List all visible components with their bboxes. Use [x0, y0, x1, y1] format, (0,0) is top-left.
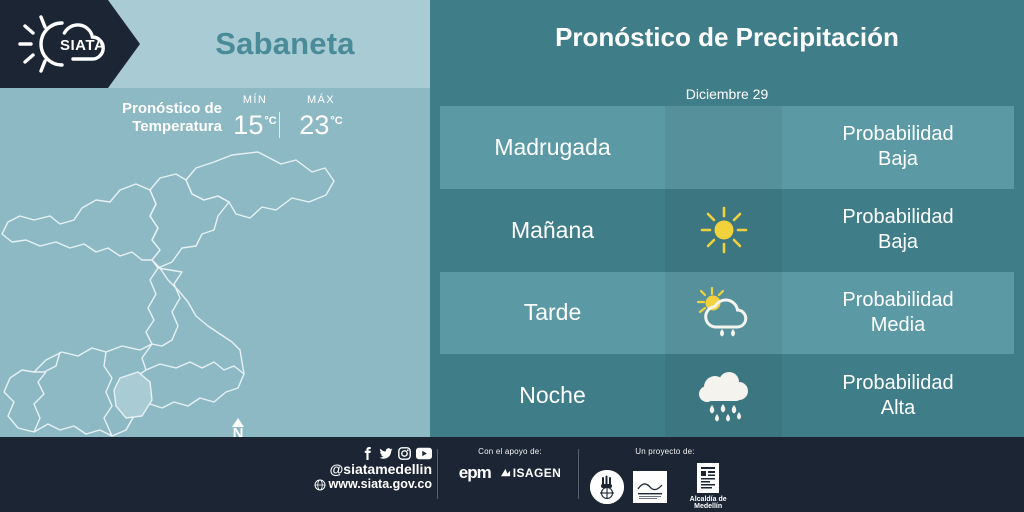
isagen-logo-text: ISAGEN [513, 466, 561, 480]
siata-logo-text: SIATA [60, 37, 105, 54]
probability-line1: Probabilidad [842, 206, 953, 228]
city-title: Sabaneta [140, 0, 430, 88]
isagen-logo: ISAGEN [500, 466, 561, 480]
youtube-icon[interactable] [416, 447, 432, 460]
weather-icon-cell [665, 354, 782, 437]
temperature-label-line1: Pronóstico de [122, 100, 222, 117]
probability-line1: Probabilidad [842, 289, 953, 311]
forecast-date: Diciembre 29 [430, 86, 1024, 102]
probability-label: Probabilidad Alta [782, 371, 1014, 421]
probability-line1: Probabilidad [842, 372, 953, 394]
temperature-block: Pronóstico de Temperatura MÍN 15°C MÁX 2… [0, 88, 430, 158]
left-header: SIATA Sabaneta [0, 0, 430, 88]
probability-line2: Media [871, 314, 925, 336]
social-handle[interactable]: @siatamedellin [308, 461, 432, 477]
moon-icon [701, 124, 747, 170]
probability-label: Probabilidad Media [782, 288, 1014, 338]
sun-cloud-rain-icon [695, 287, 753, 339]
forecast-row-tarde: Tarde [440, 272, 1014, 355]
probability-line1: Probabilidad [842, 123, 953, 145]
map-highlight-sabaneta [114, 372, 152, 418]
facebook-icon[interactable] [361, 447, 374, 460]
instagram-icon[interactable] [398, 447, 411, 460]
probability-line2: Alta [881, 397, 915, 419]
temperature-min-caption: MÍN [222, 94, 288, 106]
forecast-rows: Madrugada Probabilidad Baja Mañana [440, 106, 1014, 437]
cloud-heavy-rain-icon [695, 369, 753, 423]
project-group: Un proyecto de: [590, 447, 740, 510]
footer: @siatamedellin www.siata.gov.co Con el a… [0, 437, 1024, 512]
probability-line2: Baja [878, 231, 918, 253]
period-label: Mañana [440, 217, 665, 244]
temperature-max-value: 23 [299, 110, 329, 140]
left-panel: SIATA Sabaneta Pronóstico de Temperatura… [0, 0, 430, 437]
forecast-row-noche: Noche [440, 354, 1014, 437]
footer-divider-2 [578, 449, 579, 499]
temperature-label: Pronóstico de Temperatura [70, 100, 222, 136]
area-metropolitana-seal-icon [590, 470, 624, 504]
weather-icon-cell [665, 189, 782, 272]
project-caption: Un proyecto de: [590, 447, 740, 456]
sun-icon [699, 205, 749, 255]
alcaldia-medellin-label: Alcaldía de Medellín [676, 496, 740, 510]
sun-cloud-icon: SIATA [14, 10, 118, 78]
probability-label: Probabilidad Baja [782, 122, 1014, 172]
globe-icon [314, 479, 326, 491]
aburra-valley-map: N [0, 150, 430, 437]
epm-logo: epm [459, 463, 491, 483]
temperature-max-caption: MÁX [283, 94, 359, 106]
support-group: Con el apoyo de: epm ISAGEN [455, 447, 565, 483]
weather-icon-cell [665, 106, 782, 189]
forecast-row-madrugada: Madrugada Probabilidad Baja [440, 106, 1014, 189]
period-label: Noche [440, 382, 665, 409]
footer-divider-1 [437, 449, 438, 499]
temperature-max: MÁX 23°C [283, 94, 359, 139]
period-label: Madrugada [440, 134, 665, 161]
isagen-mark-icon [500, 468, 511, 479]
support-logos: epm ISAGEN [455, 463, 565, 483]
probability-label: Probabilidad Baja [782, 205, 1014, 255]
period-label: Tarde [440, 299, 665, 326]
website-url: www.siata.gov.co [329, 477, 433, 492]
forecast-title: Pronóstico de Precipitación [430, 22, 1024, 53]
temperature-min-unit: °C [264, 115, 276, 127]
forecast-row-manana: Mañana [440, 189, 1014, 272]
weather-forecast-infographic: SIATA Sabaneta Pronóstico de Temperatura… [0, 0, 1024, 512]
temperature-label-line2: Temperatura [132, 118, 222, 135]
area-metropolitana-logo [633, 471, 667, 503]
support-caption: Con el apoyo de: [455, 447, 565, 456]
forecast-panel: Pronóstico de Precipitación Diciembre 29… [430, 0, 1024, 437]
social-icons [308, 447, 432, 460]
weather-icon-cell [665, 272, 782, 355]
website-line[interactable]: www.siata.gov.co [308, 477, 432, 492]
probability-line2: Baja [878, 148, 918, 170]
temperature-min-value: 15 [233, 110, 263, 140]
siata-logo-badge: SIATA [0, 0, 140, 88]
temperature-max-unit: °C [330, 115, 342, 127]
twitter-icon[interactable] [379, 447, 393, 460]
project-logos: Alcaldía de Medellín [590, 463, 740, 510]
temperature-divider [279, 112, 280, 138]
alcaldia-medellin-logo: Alcaldía de Medellín [676, 463, 740, 510]
footer-social-block: @siatamedellin www.siata.gov.co [308, 447, 432, 492]
